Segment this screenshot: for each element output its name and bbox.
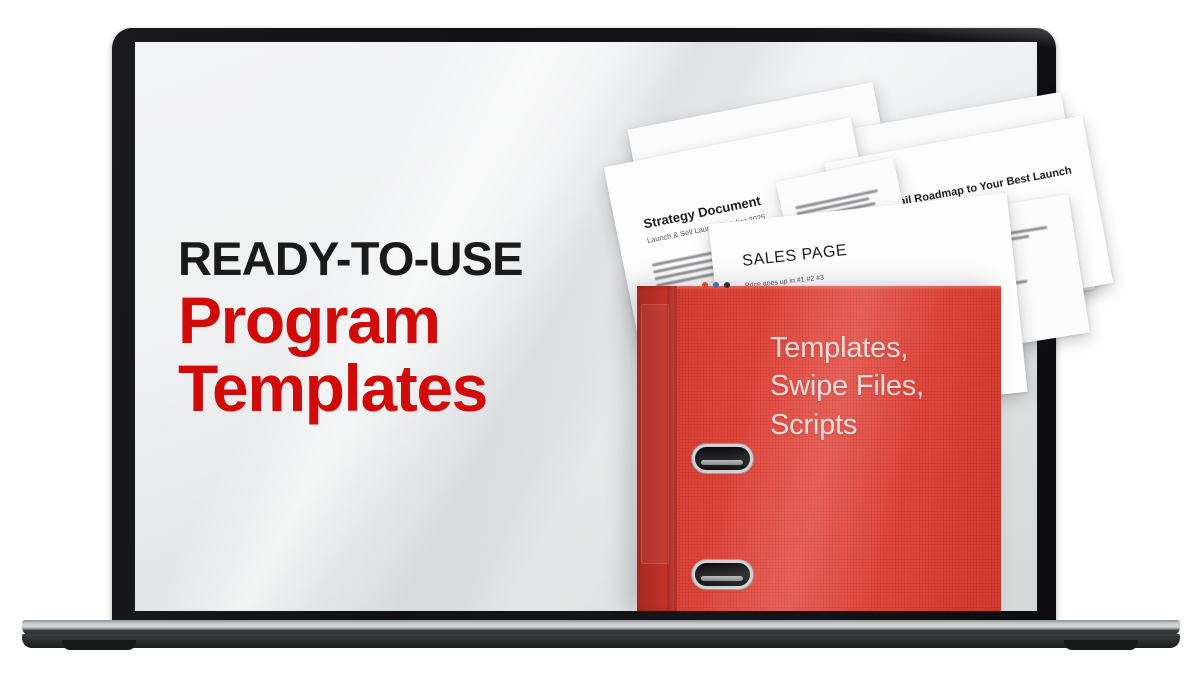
laptop-foot-right — [1064, 640, 1138, 650]
binder-ring-slot-top — [695, 447, 750, 470]
binder-spine-groove — [667, 286, 674, 611]
headline-line-1: READY-TO-USE — [178, 234, 638, 283]
headline-line-3: Templates — [178, 355, 638, 423]
laptop-foot-left — [62, 640, 136, 650]
binder-spine — [637, 286, 677, 611]
binder-page-tabs — [702, 282, 735, 300]
headline-line-2: Program — [178, 287, 638, 355]
sales-page-title: SALES PAGE — [742, 242, 849, 271]
binder-top-edge — [637, 286, 1001, 290]
laptop-base-lip — [22, 634, 1180, 648]
promo-image-stage: READY-TO-USE Program Templates Strategy … — [0, 0, 1200, 680]
binder-cover-title: Templates, Swipe Files, Scripts — [770, 329, 924, 444]
binder-ring-slot-bottom — [695, 563, 750, 586]
headline-block: READY-TO-USE Program Templates — [178, 234, 638, 423]
ring-binder: Templates, Swipe Files, Scripts — [637, 286, 1001, 611]
binder-spine-label-window — [641, 304, 669, 564]
